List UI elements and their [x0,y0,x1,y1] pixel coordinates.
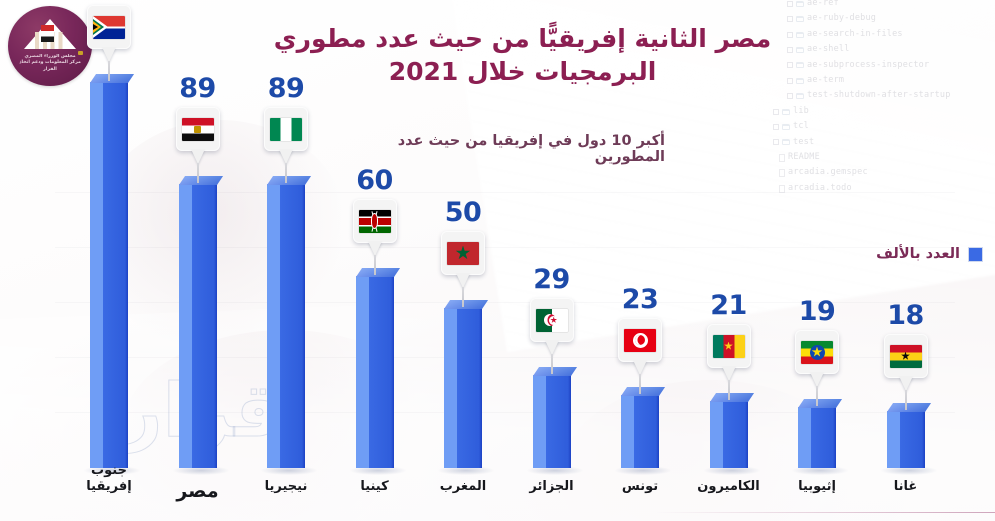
flag-pin-pointer [899,376,913,391]
bar-top-cap [90,74,134,83]
bar-face [444,308,482,468]
bar[interactable] [525,375,579,468]
flag-pin-card [441,231,485,275]
flag-pin-stem [816,386,818,406]
flag-pin-stem [905,390,907,410]
flag-pin-card [884,334,928,378]
bar-value-label: 89 [171,75,225,102]
flag-pin-stem [108,61,110,81]
bar-category-label: كينيا [336,479,414,495]
bar[interactable] [790,407,844,468]
flag-pin-pointer [191,149,205,164]
flag-pin-pointer [545,340,559,355]
flag-pin[interactable] [525,298,579,355]
checkbox-icon [773,124,779,130]
flag-pin-stem [639,374,641,394]
flag-pin-pointer [810,372,824,387]
flag-pin-stem [462,287,464,307]
flag-ghana-icon [890,345,922,368]
flag-pin-stem [285,163,287,183]
flag-pin[interactable] [171,107,225,164]
bar[interactable] [348,276,402,468]
bar[interactable] [702,401,756,468]
flag-pin-pointer [456,273,470,288]
checkbox-icon [773,139,779,145]
flag-pin[interactable] [702,324,756,381]
legend-swatch-icon [968,247,983,262]
bar-category-label: نيجيريا [247,479,325,495]
flag-pin[interactable] [790,330,844,387]
bar-top-cap [444,300,488,309]
bar-face [179,184,217,468]
file-icon [779,154,785,162]
bar-value-label: 29 [525,266,579,293]
logo-text-line2: مركز المعلومات ودعم اتخاذ القرار [14,60,86,73]
flag-pin[interactable] [879,334,933,391]
bar-top-cap [356,268,400,277]
flag-pin-card [530,298,574,342]
bar-category-label: الكاميرون [690,479,768,495]
bar-group[interactable]: 121جنوب إفريقيا [82,0,136,521]
flag-pin-card [264,107,308,151]
bar-group[interactable]: 19إثيوبيا [790,0,844,521]
file-icon [779,185,785,193]
bar-category-label: الجزائر [513,479,591,495]
flag-pin-card [353,199,397,243]
flag-pin-stem [197,163,199,183]
bar[interactable] [436,308,490,468]
bar-top-cap [533,367,577,376]
bar-top-cap [179,176,223,185]
flag-pin[interactable] [259,107,313,164]
bar-face [267,184,305,468]
flag-pin-pointer [633,360,647,375]
flag-pin-card [176,107,220,151]
bar-category-label: تونس [601,479,679,495]
flag-kenya-icon [359,210,391,233]
flag-pin-card [707,324,751,368]
bar[interactable] [259,184,313,468]
bar-group[interactable]: 60كينيا [348,0,402,521]
bar-face [621,395,659,468]
flag-pin-pointer [368,241,382,256]
flag-pin-stem [374,255,376,275]
bar-group[interactable]: 18غانا [879,0,933,521]
bar-value-label: 18 [879,302,933,329]
flag-morocco-icon [447,242,479,265]
bar[interactable] [879,411,933,468]
flag-pin-pointer [102,47,116,62]
checkbox-icon [773,109,779,115]
bar-category-label: جنوب إفريقيا [70,463,148,495]
bar-value-label: 21 [702,292,756,319]
bar-category-label: إثيوبيا [778,479,856,495]
bar-group[interactable]: 89نيجيريا [259,0,313,521]
flag-pin[interactable] [613,318,667,375]
infographic-canvas: ae-refae-ruby-debugae-search-in-filesae-… [0,0,995,521]
flag-tunisia-icon [624,329,656,352]
folder-icon [782,139,790,145]
bar-top-cap [798,399,842,408]
flag-pin-pointer [722,366,736,381]
bar-value-label: 89 [259,75,313,102]
bar-category-label: مصر [159,483,237,499]
flag-ethiopia-icon [801,341,833,364]
bar-top-cap [621,387,665,396]
bar-group[interactable]: 29الجزائر [525,0,579,521]
idsc-logo: مجلس الوزراء المصري مركز المعلومات ودعم … [8,6,92,86]
bar-group[interactable]: 23تونس [613,0,667,521]
bar-value-label: 50 [436,199,490,226]
bar-group[interactable]: 50المغرب [436,0,490,521]
bar-group[interactable]: 21الكاميرون [702,0,756,521]
flag-pin-card [618,318,662,362]
folder-icon [782,124,790,130]
bar[interactable] [82,82,136,468]
bar-face [356,276,394,468]
flag-nigeria-icon [270,118,302,141]
flag-cameroon-icon [713,335,745,358]
bar-value-label: 23 [613,286,667,313]
flag-algeria-icon [536,309,568,332]
bar-face [887,411,925,468]
bar-category-label: المغرب [424,479,502,495]
bar-value-label: 19 [790,298,844,325]
bar-top-cap [887,403,931,412]
bar-category-label: غانا [867,479,945,495]
bar-face [710,401,748,468]
flag-pin-pointer [279,149,293,164]
flag-pin[interactable] [82,5,136,62]
flag-pin[interactable] [348,199,402,256]
flag-south-africa-icon [93,16,125,39]
flag-pin-card [87,5,131,49]
logo-text: مجلس الوزراء المصري مركز المعلومات ودعم … [14,54,86,73]
bottom-accent-rule [655,512,995,513]
file-icon [779,169,785,177]
bar[interactable] [613,395,667,468]
bar-face [90,82,128,468]
logo-egypt-flag-icon [41,25,54,42]
bar-face [798,407,836,468]
folder-icon [782,109,790,115]
bar-top-cap [267,176,311,185]
flag-pin-card [795,330,839,374]
flag-egypt-icon [182,118,214,141]
bar[interactable] [171,184,225,468]
flag-pin-stem [728,380,730,400]
flag-pin[interactable] [436,231,490,288]
flag-pin-stem [551,354,553,374]
bar-group[interactable]: 89مصر [171,0,225,521]
bar-value-label: 60 [348,167,402,194]
bar-top-cap [710,393,754,402]
bar-face [533,375,571,468]
